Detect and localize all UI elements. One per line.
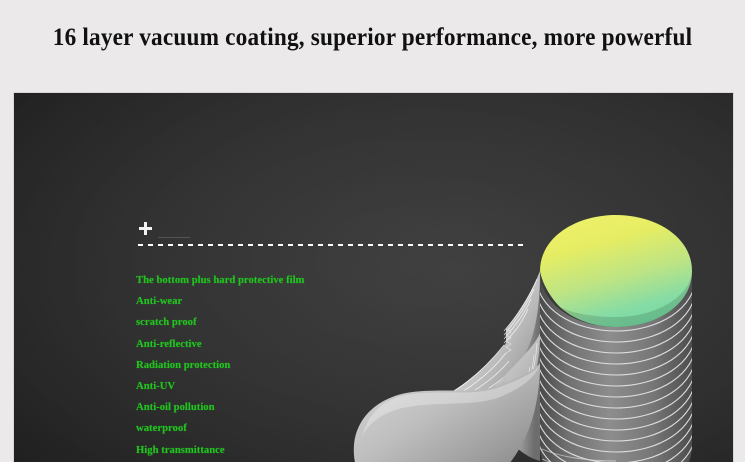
plus-icon bbox=[139, 222, 152, 235]
feature-item: Anti-oil pollution bbox=[136, 397, 388, 418]
illustration-panel: The bottom plus hard protective film Ant… bbox=[14, 93, 733, 462]
page-title: 16 layer vacuum coating, superior perfor… bbox=[26, 23, 719, 53]
feature-item: Anti-wear bbox=[136, 291, 388, 312]
feature-item: waterproof bbox=[136, 418, 388, 439]
feature-item: Radiation protection bbox=[136, 355, 388, 376]
banner-header: 16 layer vacuum coating, superior perfor… bbox=[0, 0, 745, 93]
feature-item: High transmittance bbox=[136, 440, 388, 461]
lens-stack-illustration bbox=[344, 213, 733, 462]
top-coloured-lens bbox=[540, 215, 692, 327]
feature-item: scratch proof bbox=[136, 312, 388, 333]
feature-item: Anti-UV bbox=[136, 376, 388, 397]
feature-item: The bottom plus hard protective film bbox=[136, 270, 388, 291]
feature-list: The bottom plus hard protective film Ant… bbox=[136, 270, 396, 462]
feature-item: Anti-reflective bbox=[136, 334, 388, 355]
dashed-guide-top bbox=[138, 244, 524, 246]
plus-underline bbox=[158, 237, 190, 238]
